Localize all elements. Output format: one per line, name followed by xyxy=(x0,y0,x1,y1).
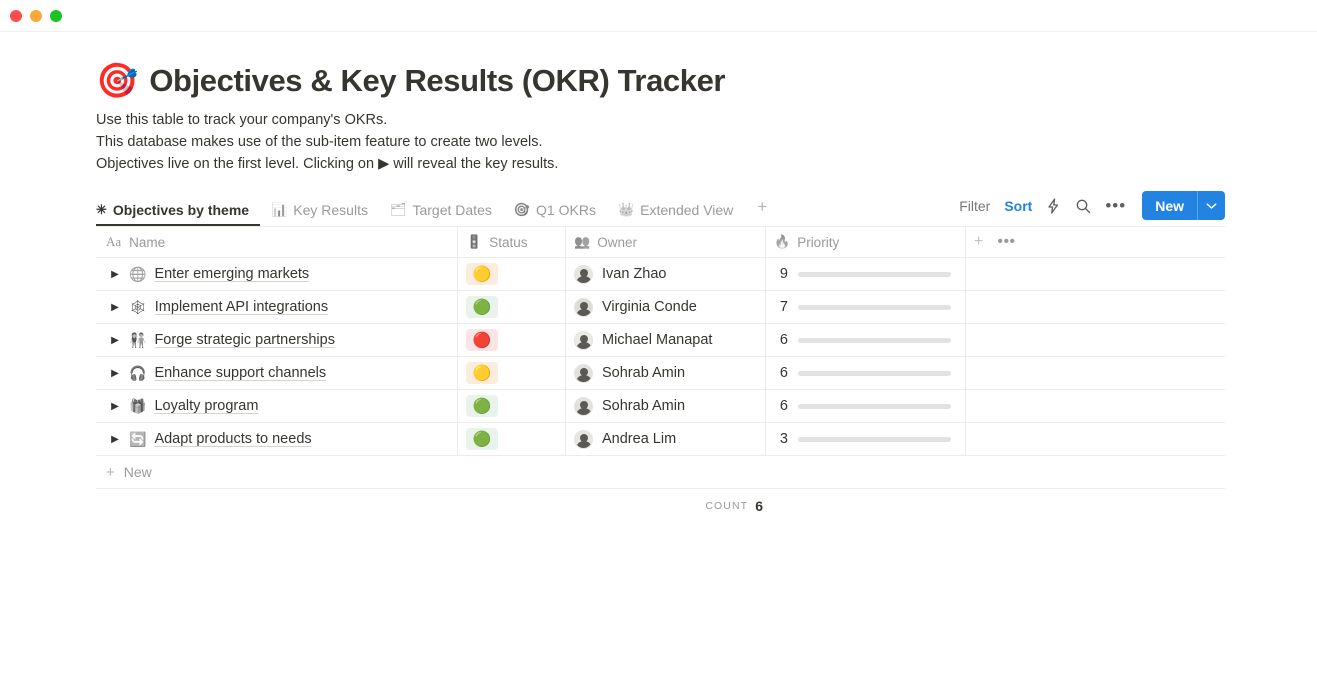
tab-label: Objectives by theme xyxy=(113,202,249,218)
status-badge: 🟢 xyxy=(466,428,498,450)
priority-value: 6 xyxy=(774,332,788,348)
cell-name: ▶ 🕸 Implement API integrations xyxy=(96,291,457,323)
cell-name: ▶ 👫 Forge strategic partnerships xyxy=(96,324,457,356)
cell-status[interactable]: 🟢 xyxy=(457,390,565,422)
cell-status[interactable]: 🟡 xyxy=(457,258,565,290)
cell-priority[interactable]: 6 xyxy=(765,324,965,356)
tab-label: Extended View xyxy=(640,202,733,218)
cell-trailing xyxy=(965,258,1225,290)
tab-label: Target Dates xyxy=(412,202,491,218)
page-header: 🎯 Objectives & Key Results (OKR) Tracker xyxy=(96,63,1317,99)
tab-label: Q1 OKRs xyxy=(536,202,596,218)
window-titlebar xyxy=(0,0,1317,32)
cell-trailing xyxy=(965,423,1225,455)
priority-progress-track xyxy=(798,272,951,277)
avatar xyxy=(574,364,593,383)
chevron-down-icon[interactable] xyxy=(1197,191,1225,220)
column-header-priority[interactable]: 🔥 Priority xyxy=(765,227,965,257)
tab-objectives-by-theme[interactable]: ✳ Objectives by theme xyxy=(96,193,260,226)
table-row[interactable]: ▶ 🎧 Enhance support channels 🟡 Sohrab Am… xyxy=(96,357,1225,390)
network-nodes-icon: 🕸 xyxy=(129,299,147,316)
row-title[interactable]: Loyalty program xyxy=(154,398,258,414)
priority-progress-track xyxy=(798,338,951,343)
row-title[interactable]: Enter emerging markets xyxy=(154,266,309,282)
avatar xyxy=(574,331,593,350)
globe-icon: 🌐 xyxy=(129,266,146,283)
add-new-row-label: New xyxy=(124,464,152,480)
cell-priority[interactable]: 6 xyxy=(765,357,965,389)
priority-progress-track xyxy=(798,305,951,310)
cell-trailing xyxy=(965,324,1225,356)
more-options-button[interactable]: ••• xyxy=(1105,201,1126,211)
bar-chart-icon: 📊 xyxy=(271,203,287,216)
row-title[interactable]: Implement API integrations xyxy=(155,299,328,315)
avatar xyxy=(574,397,593,416)
description-line-1: Use this table to track your company's O… xyxy=(96,109,1317,131)
expand-row-icon[interactable]: ▶ xyxy=(106,368,124,379)
owner-name: Michael Manapat xyxy=(602,332,712,348)
table-row[interactable]: ▶ 🎁 Loyalty program 🟢 Sohrab Amin 6 xyxy=(96,390,1225,423)
add-new-row-button[interactable]: + New xyxy=(96,456,1225,489)
cell-name: ▶ 🎧 Enhance support channels xyxy=(96,357,457,389)
priority-value: 9 xyxy=(774,266,788,282)
tab-key-results[interactable]: 📊 Key Results xyxy=(271,193,379,226)
status-badge: 🟡 xyxy=(466,263,498,285)
owner-name: Sohrab Amin xyxy=(602,365,685,381)
gift-icon: 🎁 xyxy=(129,398,146,415)
new-button[interactable]: New xyxy=(1142,191,1225,220)
status-badge: 🟢 xyxy=(466,296,498,318)
people-group-icon: 👫 xyxy=(129,332,146,349)
column-label: Owner xyxy=(597,235,637,250)
cell-trailing xyxy=(965,291,1225,323)
view-tabbar: ✳ Objectives by theme 📊 Key Results 🗂 Ta… xyxy=(96,193,1225,227)
table-header-row: Aa Name 🚦 Status 👥 Owner 🔥 Priority + ••… xyxy=(96,227,1225,258)
expand-row-icon[interactable]: ▶ xyxy=(106,302,124,313)
column-header-status[interactable]: 🚦 Status xyxy=(457,227,565,257)
flame-icon: 🔥 xyxy=(774,234,790,250)
cell-owner[interactable]: Virginia Conde xyxy=(565,291,765,323)
aa-text-icon: Aa xyxy=(106,234,121,250)
search-icon[interactable] xyxy=(1075,198,1091,214)
owner-name: Andrea Lim xyxy=(602,431,676,447)
cell-status[interactable]: 🟢 xyxy=(457,291,565,323)
headset-icon: 🎧 xyxy=(129,365,146,382)
page-content: 🎯 Objectives & Key Results (OKR) Tracker… xyxy=(0,32,1317,523)
cell-owner[interactable]: Andrea Lim xyxy=(565,423,765,455)
cell-status[interactable]: 🟢 xyxy=(457,423,565,455)
page-description: Use this table to track your company's O… xyxy=(96,109,1317,175)
add-column-button[interactable]: + xyxy=(974,233,983,251)
column-header-name[interactable]: Aa Name xyxy=(96,227,457,257)
count-value[interactable]: 6 xyxy=(755,498,763,514)
lightning-icon[interactable] xyxy=(1046,198,1061,214)
table-row[interactable]: ▶ 🔄 Adapt products to needs 🟢 Andrea Lim… xyxy=(96,423,1225,456)
close-window-button[interactable] xyxy=(10,10,22,22)
cell-owner[interactable]: Sohrab Amin xyxy=(565,390,765,422)
plus-icon: + xyxy=(106,464,115,481)
expand-row-icon[interactable]: ▶ xyxy=(106,401,124,412)
cell-priority[interactable]: 6 xyxy=(765,390,965,422)
target-icon: 🎯 xyxy=(96,64,138,98)
cell-name: ▶ 🎁 Loyalty program xyxy=(96,390,457,422)
tab-extended-view[interactable]: 👑 Extended View xyxy=(618,193,744,226)
cell-owner[interactable]: Ivan Zhao xyxy=(565,258,765,290)
row-title[interactable]: Adapt products to needs xyxy=(154,431,311,447)
priority-value: 7 xyxy=(774,299,788,315)
owner-name: Ivan Zhao xyxy=(602,266,667,282)
count-label: Count xyxy=(705,500,748,512)
cell-name: ▶ 🔄 Adapt products to needs xyxy=(96,423,457,455)
column-label: Name xyxy=(129,235,165,250)
tab-target-dates[interactable]: 🗂 Target Dates xyxy=(390,193,503,226)
tab-q1-okrs[interactable]: 🎯 Q1 OKRs xyxy=(514,193,607,226)
column-options-button[interactable]: ••• xyxy=(997,238,1015,246)
table-row[interactable]: ▶ 👫 Forge strategic partnerships 🔴 Micha… xyxy=(96,324,1225,357)
cell-owner[interactable]: Sohrab Amin xyxy=(565,357,765,389)
zoom-window-button[interactable] xyxy=(50,10,62,22)
priority-value: 6 xyxy=(774,398,788,414)
expand-row-icon[interactable]: ▶ xyxy=(106,269,124,280)
cell-priority[interactable]: 9 xyxy=(765,258,965,290)
people-icon: 👥 xyxy=(574,234,590,250)
avatar xyxy=(574,298,593,317)
avatar xyxy=(574,430,593,449)
owner-name: Sohrab Amin xyxy=(602,398,685,414)
cell-status[interactable]: 🔴 xyxy=(457,324,565,356)
table-row[interactable]: ▶ 🕸 Implement API integrations 🟢 Virgini… xyxy=(96,291,1225,324)
cell-trailing xyxy=(965,357,1225,389)
cell-priority[interactable]: 7 xyxy=(765,291,965,323)
sort-button[interactable]: Sort xyxy=(1004,198,1032,214)
asterisk-icon: ✳ xyxy=(96,203,107,216)
row-title[interactable]: Enhance support channels xyxy=(154,365,326,381)
avatar xyxy=(574,265,593,284)
status-badge: 🟡 xyxy=(466,362,498,384)
okr-table: Aa Name 🚦 Status 👥 Owner 🔥 Priority + ••… xyxy=(96,227,1225,523)
status-badge: 🟢 xyxy=(466,395,498,417)
row-title[interactable]: Forge strategic partnerships xyxy=(154,332,335,348)
cell-trailing xyxy=(965,390,1225,422)
minimize-window-button[interactable] xyxy=(30,10,42,22)
status-badge: 🔴 xyxy=(466,329,498,351)
traffic-light-icon: 🚦 xyxy=(466,234,482,250)
new-button-label: New xyxy=(1142,198,1197,214)
priority-progress-track xyxy=(798,371,951,376)
view-toolbar: Filter Sort ••• New xyxy=(959,191,1225,226)
filter-button[interactable]: Filter xyxy=(959,198,990,214)
cell-name: ▶ 🌐 Enter emerging markets xyxy=(96,258,457,290)
expand-row-icon[interactable]: ▶ xyxy=(106,335,124,346)
priority-progress-track xyxy=(798,404,951,409)
view-tabs: ✳ Objectives by theme 📊 Key Results 🗂 Ta… xyxy=(96,193,773,226)
column-header-owner[interactable]: 👥 Owner xyxy=(565,227,765,257)
owner-name: Virginia Conde xyxy=(602,299,697,315)
priority-progress-track xyxy=(798,437,951,442)
table-footer: Count 6 xyxy=(96,489,1225,523)
traffic-light-controls xyxy=(10,10,62,22)
column-label: Priority xyxy=(797,235,839,250)
add-view-button[interactable]: + xyxy=(755,197,773,226)
sync-icon: 🔄 xyxy=(129,431,146,448)
table-row[interactable]: ▶ 🌐 Enter emerging markets 🟡 Ivan Zhao 9 xyxy=(96,258,1225,291)
page-title: Objectives & Key Results (OKR) Tracker xyxy=(149,63,725,99)
column-label: Status xyxy=(489,235,527,250)
priority-value: 3 xyxy=(774,431,788,447)
description-line-2: This database makes use of the sub-item … xyxy=(96,131,1317,153)
cell-priority[interactable]: 3 xyxy=(765,423,965,455)
cell-status[interactable]: 🟡 xyxy=(457,357,565,389)
description-line-3: Objectives live on the first level. Clic… xyxy=(96,153,1317,175)
target-icon: 🎯 xyxy=(514,203,530,216)
cell-owner[interactable]: Michael Manapat xyxy=(565,324,765,356)
tab-label: Key Results xyxy=(293,202,368,218)
list-icon: 🗂 xyxy=(390,203,407,216)
crown-icon: 👑 xyxy=(618,203,634,216)
expand-row-icon[interactable]: ▶ xyxy=(106,434,124,445)
priority-value: 6 xyxy=(774,365,788,381)
column-header-trailing: + ••• xyxy=(965,227,1225,257)
